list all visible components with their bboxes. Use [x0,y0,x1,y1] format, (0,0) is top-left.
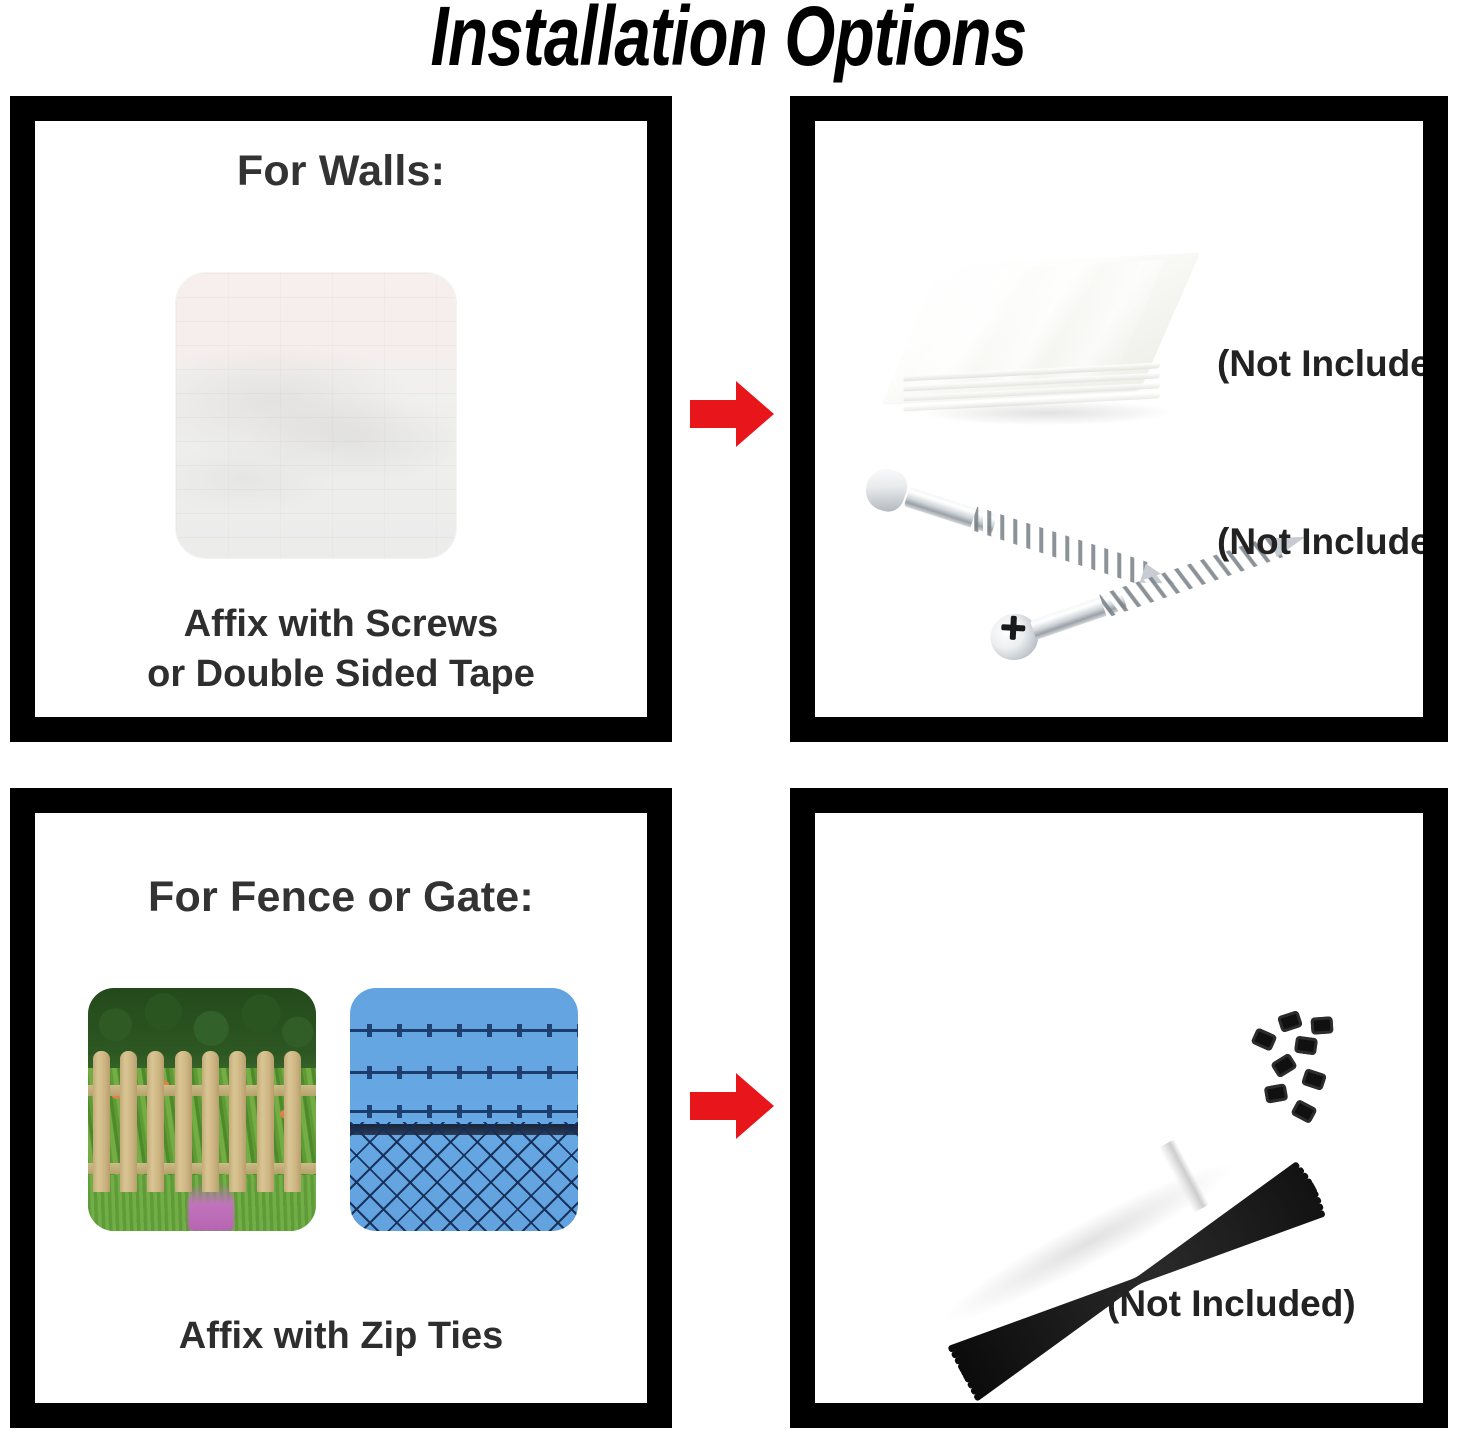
phillips-cross-icon [1010,616,1017,640]
barbed-wire-strand [350,1029,578,1032]
fence-heading: For Fence or Gate: [35,873,647,922]
panel-for-fence-or-gate: For Fence or Gate: [10,788,672,1428]
picket-group [88,988,316,1231]
walls-caption-line-2: or Double Sided Tape [35,649,647,699]
double-sided-tape-image [897,251,1197,441]
zipties-not-included-label: (Not Included) [1107,1283,1356,1325]
chain-link-mesh [350,1122,578,1231]
panel-zip-ties: (Not Included) [790,788,1448,1428]
chain-link-fence-image [350,988,578,1231]
arrow-right-icon [688,378,776,450]
white-brick-wall-image [176,273,456,558]
panel-zip-ties-inner: (Not Included) [815,813,1423,1403]
panel-for-fence-or-gate-inner: For Fence or Gate: [35,813,647,1403]
panel-for-walls-inner: For Walls: Affix with Screws or Double S… [35,121,647,717]
panel-wall-hardware: (Not Included) (Not Included) [790,96,1448,742]
barbed-wire-strand [350,1071,578,1074]
barbed-wire-strand [350,1110,578,1113]
screw-head-flat [860,464,911,516]
wooden-picket-fence-image [88,988,316,1231]
panel-wall-hardware-inner: (Not Included) (Not Included) [815,121,1423,717]
brick-mottle-texture [176,273,456,558]
walls-caption-line-1: Affix with Screws [35,599,647,649]
tape-shadow [917,401,1179,425]
page-title: Installation Options [160,0,1296,80]
fence-caption-line-1: Affix with Zip Ties [35,1311,647,1361]
walls-heading: For Walls: [35,147,647,196]
panel-for-walls: For Walls: Affix with Screws or Double S… [10,96,672,742]
tape-not-included-label: (Not Included) [1217,343,1423,385]
screws-not-included-label: (Not Included) [1217,521,1423,563]
arrow-right-icon [688,1070,776,1142]
screw-thread [970,507,1149,585]
